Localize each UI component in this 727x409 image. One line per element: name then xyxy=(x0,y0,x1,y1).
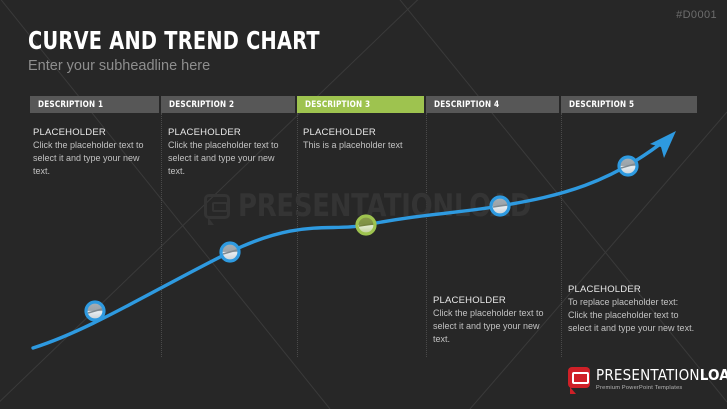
data-point-marker-1[interactable] xyxy=(86,302,104,320)
placeholder-body: To replace placeholder text: Click the p… xyxy=(568,296,696,334)
data-point-marker-5[interactable] xyxy=(619,157,637,175)
placeholder-block-1[interactable]: PLACEHOLDER Click the placeholder text t… xyxy=(33,127,157,177)
placeholder-heading: PLACEHOLDER xyxy=(303,127,429,138)
placeholder-heading: PLACEHOLDER xyxy=(433,295,557,306)
logo-brand-bold: LOAD xyxy=(700,366,727,384)
placeholder-block-4[interactable]: PLACEHOLDER Click the placeholder text t… xyxy=(433,295,557,345)
placeholder-body: This is a placeholder text xyxy=(303,139,429,152)
data-point-marker-2[interactable] xyxy=(221,243,239,261)
slide-canvas: #D0001 Curve and Trend Chart Enter your … xyxy=(0,0,727,409)
placeholder-block-2[interactable]: PLACEHOLDER Click the placeholder text t… xyxy=(168,127,292,177)
trend-curve-chart xyxy=(0,0,727,409)
data-point-marker-4[interactable] xyxy=(491,197,509,215)
logo-wordmark: PRESENTATIONLOAD® xyxy=(596,368,727,383)
placeholder-body: Click the placeholder text to select it … xyxy=(433,307,557,345)
data-point-marker-3[interactable] xyxy=(357,216,375,234)
logo-brand-light: PRESENTATION xyxy=(596,366,700,384)
speech-bubble-icon xyxy=(568,367,590,388)
placeholder-block-5[interactable]: PLACEHOLDER To replace placeholder text:… xyxy=(568,284,696,334)
placeholder-heading: PLACEHOLDER xyxy=(568,284,696,295)
trend-arrowhead xyxy=(650,131,676,158)
placeholder-block-3[interactable]: PLACEHOLDER This is a placeholder text xyxy=(303,127,429,152)
placeholder-heading: PLACEHOLDER xyxy=(33,127,157,138)
placeholder-body: Click the placeholder text to select it … xyxy=(168,139,292,177)
logo-tagline: Premium PowerPoint Templates xyxy=(596,385,727,391)
placeholder-heading: PLACEHOLDER xyxy=(168,127,292,138)
presentationload-logo: PRESENTATIONLOAD® Premium PowerPoint Tem… xyxy=(568,367,727,391)
placeholder-body: Click the placeholder text to select it … xyxy=(33,139,157,177)
